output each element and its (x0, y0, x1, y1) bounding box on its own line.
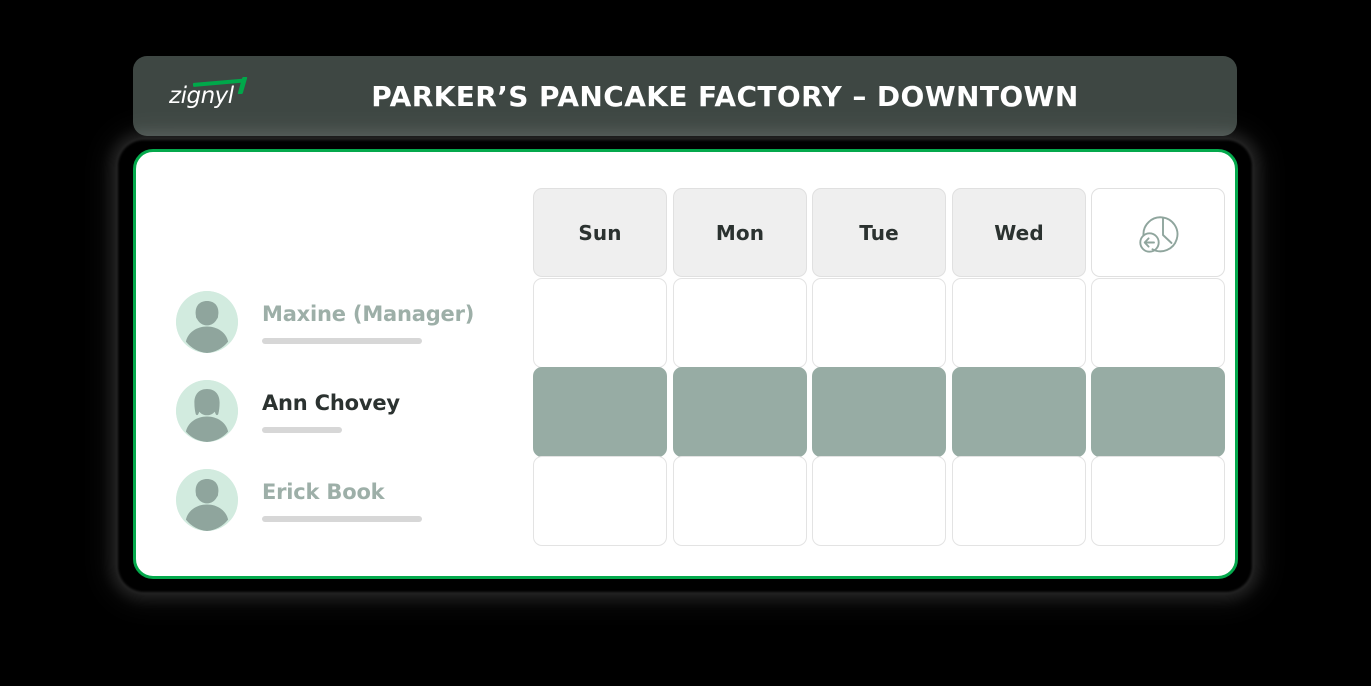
schedule-cell-empty[interactable] (673, 456, 807, 546)
schedule-column-wed: Wed (952, 188, 1086, 546)
day-header-tue[interactable]: Tue (812, 188, 946, 277)
schedule-cell-empty[interactable] (952, 278, 1086, 368)
schedule-cell-empty[interactable] (1091, 456, 1225, 546)
avatar-female-icon (176, 380, 238, 442)
employee-name: Maxine (Manager) (262, 301, 474, 327)
schedule-column-history (1091, 188, 1225, 546)
schedule-cell-shift[interactable] (673, 367, 807, 457)
schedule-cell-empty[interactable] (533, 278, 667, 368)
schedule-cell-empty[interactable] (952, 456, 1086, 546)
avatar (176, 380, 238, 442)
day-header-wed[interactable]: Wed (952, 188, 1086, 277)
avatar-male-icon (176, 469, 238, 531)
clock-history-icon (1130, 205, 1186, 261)
employee-row-ann[interactable]: Ann Chovey (176, 367, 526, 455)
avatar-male-icon (176, 291, 238, 353)
schedule-cell-shift[interactable] (533, 367, 667, 457)
day-label: Tue (859, 221, 899, 245)
employee-placeholder-bar (262, 427, 342, 433)
schedule-column-mon: Mon (673, 188, 807, 546)
employee-list: Maxine (Manager) Ann Chovey (176, 152, 526, 576)
schedule-cell-empty[interactable] (812, 278, 946, 368)
schedule-cell-empty[interactable] (1091, 278, 1225, 368)
employee-name: Ann Chovey (262, 390, 400, 416)
schedule-cell-empty[interactable] (533, 456, 667, 546)
employee-name: Erick Book (262, 479, 422, 505)
app-header-bar: zignyl PARKER’S PANCAKE FACTORY – DOWNTO… (133, 56, 1237, 136)
app-stage: zignyl PARKER’S PANCAKE FACTORY – DOWNTO… (0, 0, 1371, 686)
schedule-card: Maxine (Manager) Ann Chovey (133, 149, 1238, 579)
day-label: Wed (994, 221, 1044, 245)
day-header-history[interactable] (1091, 188, 1225, 277)
avatar (176, 469, 238, 531)
employee-row-erick[interactable]: Erick Book (176, 456, 526, 544)
employee-row-maxine[interactable]: Maxine (Manager) (176, 278, 526, 366)
avatar (176, 291, 238, 353)
schedule-cell-shift[interactable] (952, 367, 1086, 457)
schedule-column-sun: Sun (533, 188, 667, 546)
day-label: Mon (716, 221, 764, 245)
day-header-sun[interactable]: Sun (533, 188, 667, 277)
schedule-cell-empty[interactable] (812, 456, 946, 546)
day-header-mon[interactable]: Mon (673, 188, 807, 277)
employee-placeholder-bar (262, 338, 422, 344)
schedule-cell-empty[interactable] (673, 278, 807, 368)
schedule-cell-shift[interactable] (812, 367, 946, 457)
schedule-column-tue: Tue (812, 188, 946, 546)
day-label: Sun (578, 221, 621, 245)
employee-placeholder-bar (262, 516, 422, 522)
page-title: PARKER’S PANCAKE FACTORY – DOWNTOWN (133, 80, 1237, 113)
schedule-cell-shift[interactable] (1091, 367, 1225, 457)
schedule-grid: Sun Mon Tue (533, 188, 1225, 546)
